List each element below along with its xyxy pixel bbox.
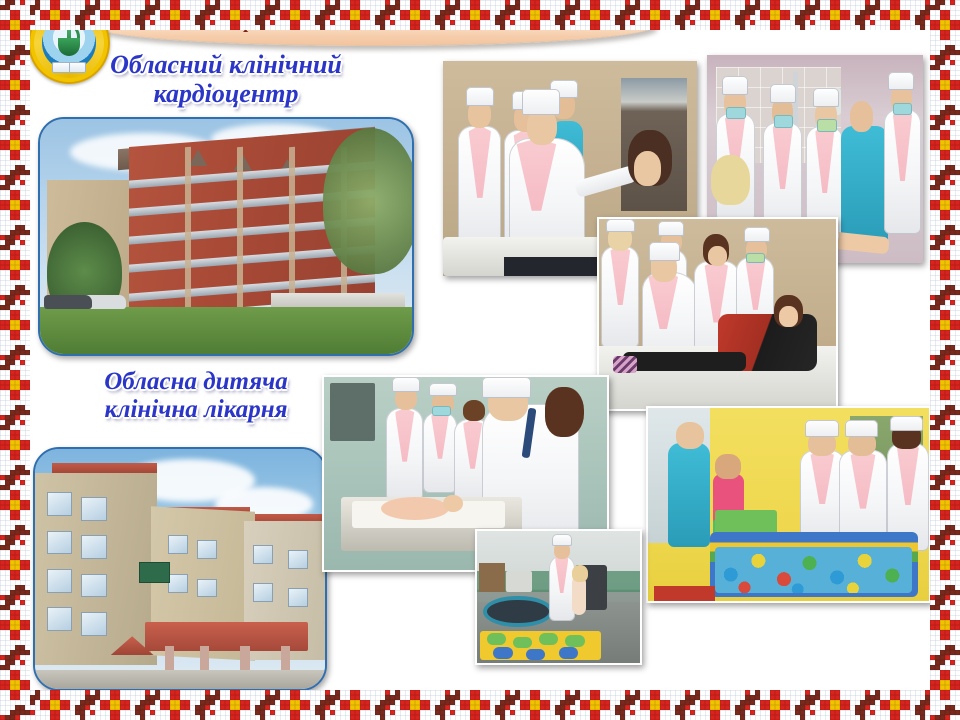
- border-bottom-vyshyvanka: [30, 690, 930, 720]
- photo-children-hospital-building: [33, 447, 327, 691]
- border-right-vyshyvanka: [930, 0, 960, 720]
- photo-ball-pit-rehabilitation: [646, 406, 931, 603]
- photo-patient-examination-bed: [597, 217, 838, 411]
- presentation-slide: Обласний клінічний кардіоцентр Обласна д…: [0, 0, 960, 720]
- border-top-vyshyvanka: [30, 0, 930, 30]
- border-left-vyshyvanka: [0, 0, 30, 720]
- photo-cardio-building: [38, 117, 414, 356]
- emblem-book-icon: [52, 62, 86, 73]
- photo-child-balance-path: [475, 529, 642, 665]
- heading-children-hospital: Обласна дитяча клінічна лікарня: [46, 368, 346, 424]
